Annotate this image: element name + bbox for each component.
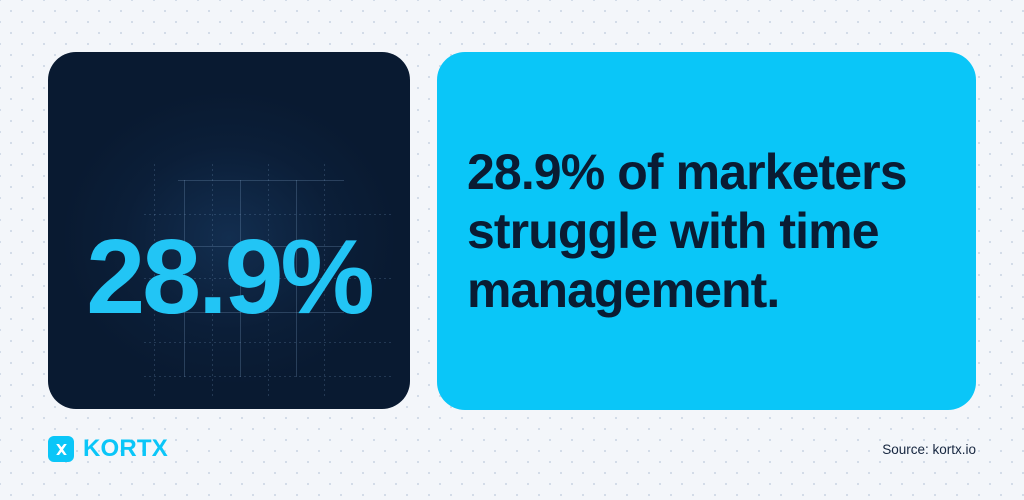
statement-text: 28.9% of marketers struggle with time ma…	[467, 143, 946, 320]
kortx-logo-icon	[48, 436, 74, 462]
brand-lockup[interactable]: KORTX	[48, 435, 168, 463]
footer: KORTX Source: kortx.io	[48, 430, 976, 468]
stat-value: 28.9%	[48, 224, 410, 330]
grid-dotted-line-h4	[144, 376, 392, 377]
infographic-canvas: 28.9% 28.9% of marketers struggle with t…	[0, 0, 1024, 500]
stat-card: 28.9%	[48, 52, 410, 409]
grid-dotted-line-h1	[144, 214, 392, 215]
statement-card: 28.9% of marketers struggle with time ma…	[437, 52, 976, 410]
grid-dotted-line-h3	[144, 342, 392, 343]
source-attribution: Source: kortx.io	[882, 442, 976, 457]
brand-name: KORTX	[83, 435, 168, 463]
